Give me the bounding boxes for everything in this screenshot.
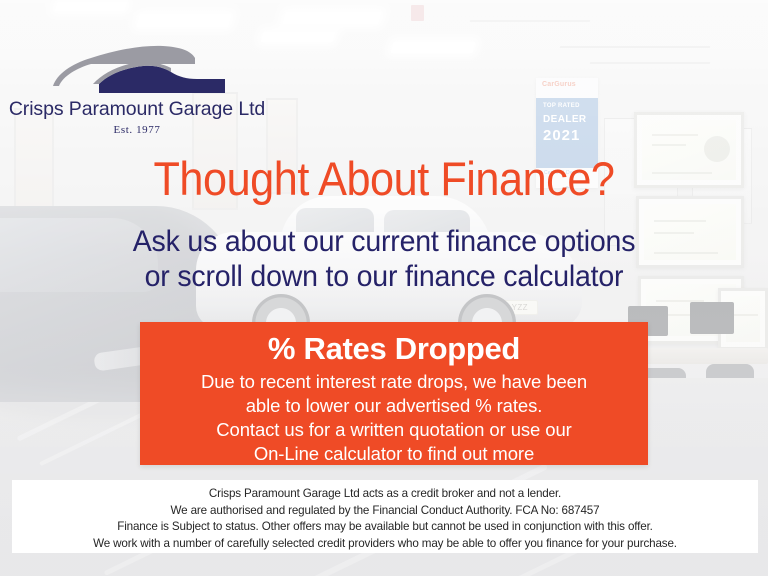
disclaimer-line-3: Finance is Subject to status. Other offe… (23, 518, 747, 535)
promo-title: % Rates Dropped (140, 330, 648, 368)
subheading-line-2: or scroll down to our finance calculator (19, 259, 749, 294)
brand-established: Est. 1977 (8, 124, 266, 136)
brand-name: Crisps Paramount Garage Ltd (8, 98, 266, 121)
promo-line-4: On-Line calculator to find out more (140, 442, 648, 466)
disclaimer-line-4: We work with a number of carefully selec… (23, 535, 747, 552)
finance-promo-poster: CarGurus TOP RATED DEALER 2021 Certified… (0, 0, 768, 576)
promo-body: Due to recent interest rate drops, we ha… (140, 370, 648, 466)
promo-line-2: able to lower our advertised % rates. (140, 394, 648, 418)
poster-content: Crisps Paramount Garage Ltd Est. 1977 Th… (0, 0, 768, 576)
subheading-line-1: Ask us about our current finance options (19, 224, 749, 259)
page-title: Thought About Finance? (31, 151, 738, 207)
subheading: Ask us about our current finance options… (19, 224, 749, 294)
disclaimer-line-2: We are authorised and regulated by the F… (23, 502, 747, 519)
car-silhouette-icon (47, 34, 227, 96)
disclaimer-band: Crisps Paramount Garage Ltd acts as a cr… (12, 480, 758, 553)
rates-dropped-banner: % Rates Dropped Due to recent interest r… (140, 322, 648, 465)
promo-line-3: Contact us for a written quotation or us… (140, 418, 648, 442)
brand-logo-block: Crisps Paramount Garage Ltd Est. 1977 (8, 34, 266, 136)
promo-line-1: Due to recent interest rate drops, we ha… (140, 370, 648, 394)
disclaimer-line-1: Crisps Paramount Garage Ltd acts as a cr… (23, 485, 747, 502)
